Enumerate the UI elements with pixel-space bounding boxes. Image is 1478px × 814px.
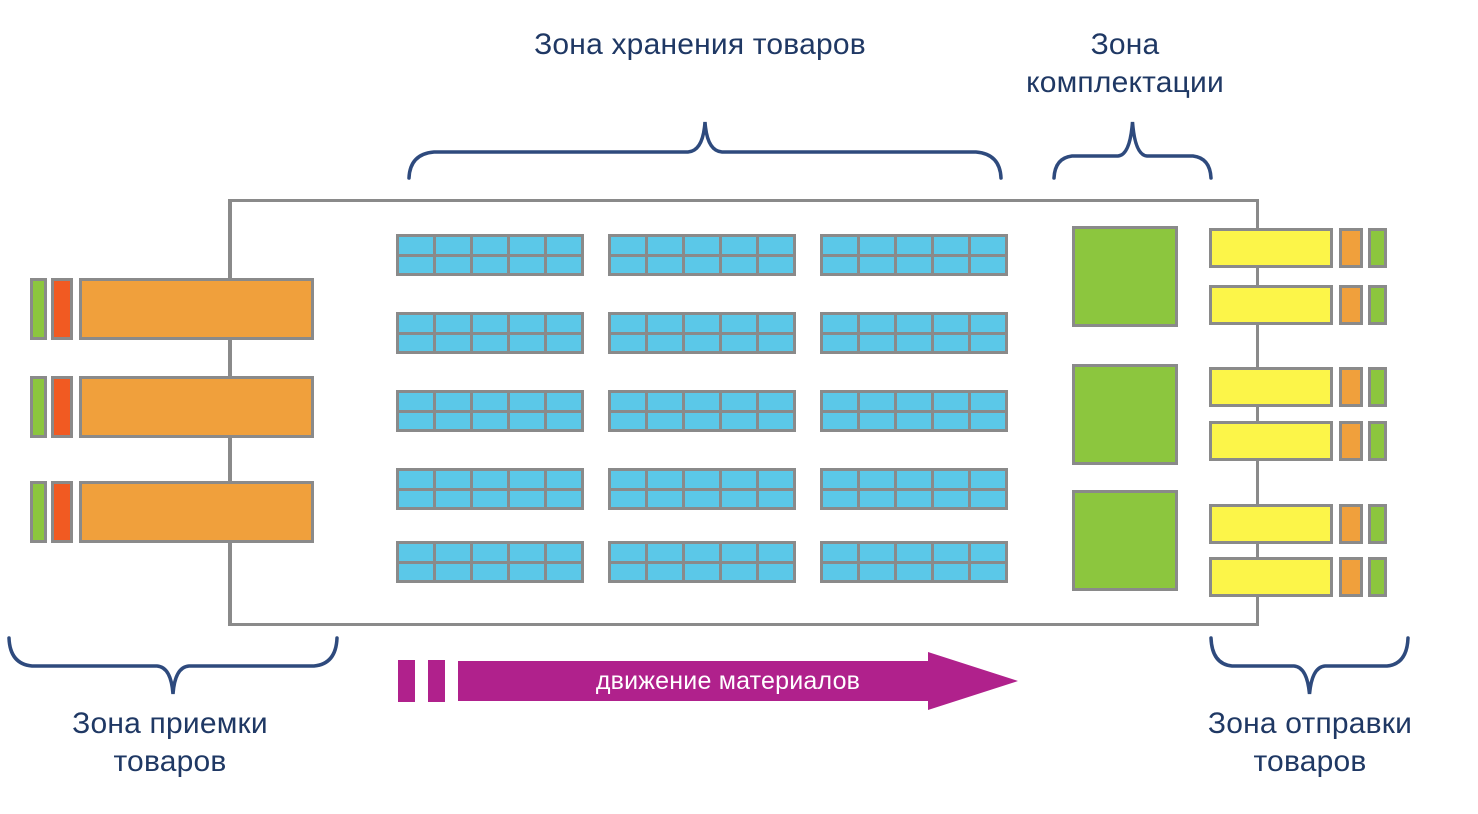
shipping-dock-row[interactable] [1209,421,1387,461]
zone-label-shipping: Зона отправки товаров [1160,705,1460,781]
rack-cell [648,237,682,254]
rack-cell [897,257,931,274]
rack-cell [971,393,1005,410]
rack-cell [611,491,645,508]
rack-cell [823,393,857,410]
rack-cell [510,393,544,410]
rack-cell [823,315,857,332]
rack-cell [823,413,857,430]
rack-cell [473,237,507,254]
shipping-orange-strip [1339,285,1363,325]
rack-cell [611,564,645,581]
rack-cell [722,315,756,332]
rack-cell [547,544,581,561]
rack-cell [510,544,544,561]
storage-rack[interactable] [820,234,1008,276]
rack-cell [547,471,581,488]
shipping-bay[interactable] [1209,367,1333,407]
rack-cell [759,393,793,410]
brace-up-icon-storage [405,118,1005,180]
rack-cell [759,413,793,430]
rack-cell [860,393,894,410]
shipping-orange-strip [1339,504,1363,544]
rack-cell [473,544,507,561]
rack-cell [934,413,968,430]
storage-rack[interactable] [396,541,584,583]
storage-rack[interactable] [608,234,796,276]
storage-rack[interactable] [820,541,1008,583]
storage-rack[interactable] [608,390,796,432]
rack-cell [971,491,1005,508]
shipping-bay[interactable] [1209,504,1333,544]
rack-cell [436,491,470,508]
rack-cell [934,564,968,581]
rack-cell [399,471,433,488]
rack-cell [685,564,719,581]
rack-cell [399,335,433,352]
rack-cell [897,315,931,332]
rack-cell [547,491,581,508]
rack-cell [473,471,507,488]
rack-cell [934,315,968,332]
rack-cell [399,413,433,430]
rack-cell [759,564,793,581]
rack-cell [759,544,793,561]
rack-cell [510,257,544,274]
rack-cell [971,544,1005,561]
storage-rack[interactable] [396,468,584,510]
storage-rack[interactable] [396,390,584,432]
rack-cell [897,544,931,561]
rack-cell [648,335,682,352]
rack-cell [823,564,857,581]
rack-cell [759,471,793,488]
shipping-dock-row[interactable] [1209,367,1387,407]
shipping-dock-row[interactable] [1209,557,1387,597]
rack-cell [473,335,507,352]
rack-cell [971,471,1005,488]
material-flow-label: движение материалов [518,652,938,710]
picking-area-square[interactable] [1072,226,1178,327]
shipping-bay[interactable] [1209,557,1333,597]
rack-cell [759,257,793,274]
rack-cell [473,393,507,410]
shipping-bay[interactable] [1209,421,1333,461]
flow-tick-mark [428,660,445,702]
rack-cell [860,257,894,274]
rack-cell [934,471,968,488]
rack-cell [510,413,544,430]
rack-cell [399,393,433,410]
rack-cell [934,544,968,561]
rack-cell [823,257,857,274]
rack-cell [436,257,470,274]
rack-cell [436,315,470,332]
rack-cell [473,413,507,430]
receiving-bay[interactable] [79,481,314,543]
rack-cell [722,544,756,561]
rack-cell [611,393,645,410]
warehouse-layout-diagram: Зона хранения товаров Зона комплектации … [0,0,1478,814]
rack-cell [860,544,894,561]
rack-cell [685,335,719,352]
rack-cell [399,491,433,508]
rack-cell [648,393,682,410]
rack-cell [971,564,1005,581]
brace-up-icon-picking [1050,118,1215,180]
rack-cell [648,564,682,581]
receiving-red-strip [51,481,73,543]
rack-cell [685,257,719,274]
rack-cell [722,491,756,508]
rack-cell [860,413,894,430]
rack-cell [547,315,581,332]
shipping-green-strip [1368,421,1387,461]
rack-cell [823,237,857,254]
rack-cell [685,315,719,332]
shipping-green-strip [1368,228,1387,268]
storage-rack[interactable] [608,312,796,354]
rack-cell [759,335,793,352]
rack-cell [971,237,1005,254]
rack-cell [971,413,1005,430]
brace-down-icon-shipping [1207,636,1412,698]
rack-cell [860,491,894,508]
receiving-dock-row[interactable] [30,376,314,438]
rack-cell [860,315,894,332]
storage-rack[interactable] [396,312,584,354]
rack-cell [473,257,507,274]
rack-cell [510,471,544,488]
rack-cell [399,544,433,561]
rack-cell [823,544,857,561]
zone-title-picking: Зона комплектации [1000,26,1250,102]
shipping-dock-row[interactable] [1209,504,1387,544]
rack-cell [648,544,682,561]
rack-cell [685,413,719,430]
receiving-red-strip [51,278,73,340]
rack-cell [722,237,756,254]
shipping-green-strip [1368,285,1387,325]
brace-down-icon-receiving [5,636,341,698]
rack-cell [934,257,968,274]
receiving-bay[interactable] [79,278,314,340]
shipping-green-strip [1368,367,1387,407]
receiving-red-strip [51,376,73,438]
rack-cell [547,393,581,410]
rack-cell [685,471,719,488]
rack-cell [971,315,1005,332]
shipping-green-strip [1368,557,1387,597]
rack-cell [934,335,968,352]
rack-cell [436,413,470,430]
rack-cell [611,335,645,352]
rack-cell [897,237,931,254]
receiving-bay[interactable] [79,376,314,438]
rack-cell [759,315,793,332]
rack-cell [473,315,507,332]
rack-cell [648,413,682,430]
receiving-green-strip [30,376,47,438]
storage-rack[interactable] [820,312,1008,354]
rack-cell [648,257,682,274]
rack-cell [823,471,857,488]
shipping-dock-row[interactable] [1209,228,1387,268]
rack-cell [860,471,894,488]
rack-cell [399,237,433,254]
rack-cell [436,564,470,581]
shipping-dock-row[interactable] [1209,285,1387,325]
rack-cell [436,393,470,410]
rack-cell [722,257,756,274]
rack-cell [934,237,968,254]
rack-cell [722,471,756,488]
rack-cell [685,393,719,410]
flow-tick-mark [398,660,415,702]
shipping-orange-strip [1339,367,1363,407]
rack-cell [685,237,719,254]
rack-cell [897,393,931,410]
picking-area-square[interactable] [1072,490,1178,591]
receiving-dock-row[interactable] [30,481,314,543]
shipping-orange-strip [1339,421,1363,461]
rack-cell [611,257,645,274]
rack-cell [436,237,470,254]
shipping-bay[interactable] [1209,285,1333,325]
storage-rack[interactable] [608,468,796,510]
picking-area-square[interactable] [1072,364,1178,465]
rack-cell [897,335,931,352]
storage-rack[interactable] [820,468,1008,510]
rack-cell [897,413,931,430]
rack-cell [510,335,544,352]
rack-cell [436,471,470,488]
rack-cell [611,315,645,332]
shipping-bay[interactable] [1209,228,1333,268]
rack-cell [860,564,894,581]
shipping-orange-strip [1339,228,1363,268]
storage-rack[interactable] [820,390,1008,432]
material-flow-arrow: движение материалов [398,652,1018,710]
rack-cell [473,564,507,581]
rack-cell [685,544,719,561]
rack-cell [971,335,1005,352]
rack-cell [611,471,645,488]
rack-cell [722,413,756,430]
receiving-dock-row[interactable] [30,278,314,340]
rack-cell [547,237,581,254]
rack-cell [436,335,470,352]
rack-cell [860,335,894,352]
storage-rack[interactable] [608,541,796,583]
rack-cell [823,335,857,352]
rack-cell [860,237,894,254]
rack-cell [722,335,756,352]
rack-cell [934,491,968,508]
rack-cell [611,544,645,561]
rack-cell [611,413,645,430]
rack-cell [547,413,581,430]
rack-cell [510,315,544,332]
rack-cell [547,564,581,581]
rack-cell [399,257,433,274]
shipping-orange-strip [1339,557,1363,597]
rack-cell [971,257,1005,274]
rack-cell [611,237,645,254]
rack-cell [759,491,793,508]
rack-cell [934,393,968,410]
rack-cell [648,491,682,508]
rack-cell [648,471,682,488]
rack-cell [759,237,793,254]
rack-cell [399,564,433,581]
rack-cell [436,544,470,561]
rack-cell [685,491,719,508]
rack-cell [473,491,507,508]
rack-cell [399,315,433,332]
rack-cell [897,564,931,581]
rack-cell [547,257,581,274]
rack-cell [648,315,682,332]
zone-title-storage: Зона хранения товаров [430,26,970,64]
rack-cell [547,335,581,352]
storage-rack[interactable] [396,234,584,276]
receiving-green-strip [30,278,47,340]
rack-cell [823,491,857,508]
rack-cell [510,564,544,581]
rack-cell [897,491,931,508]
shipping-green-strip [1368,504,1387,544]
rack-cell [510,491,544,508]
rack-cell [722,564,756,581]
receiving-green-strip [30,481,47,543]
rack-cell [510,237,544,254]
rack-cell [897,471,931,488]
rack-cell [722,393,756,410]
zone-label-receiving: Зона приемки товаров [20,705,320,781]
